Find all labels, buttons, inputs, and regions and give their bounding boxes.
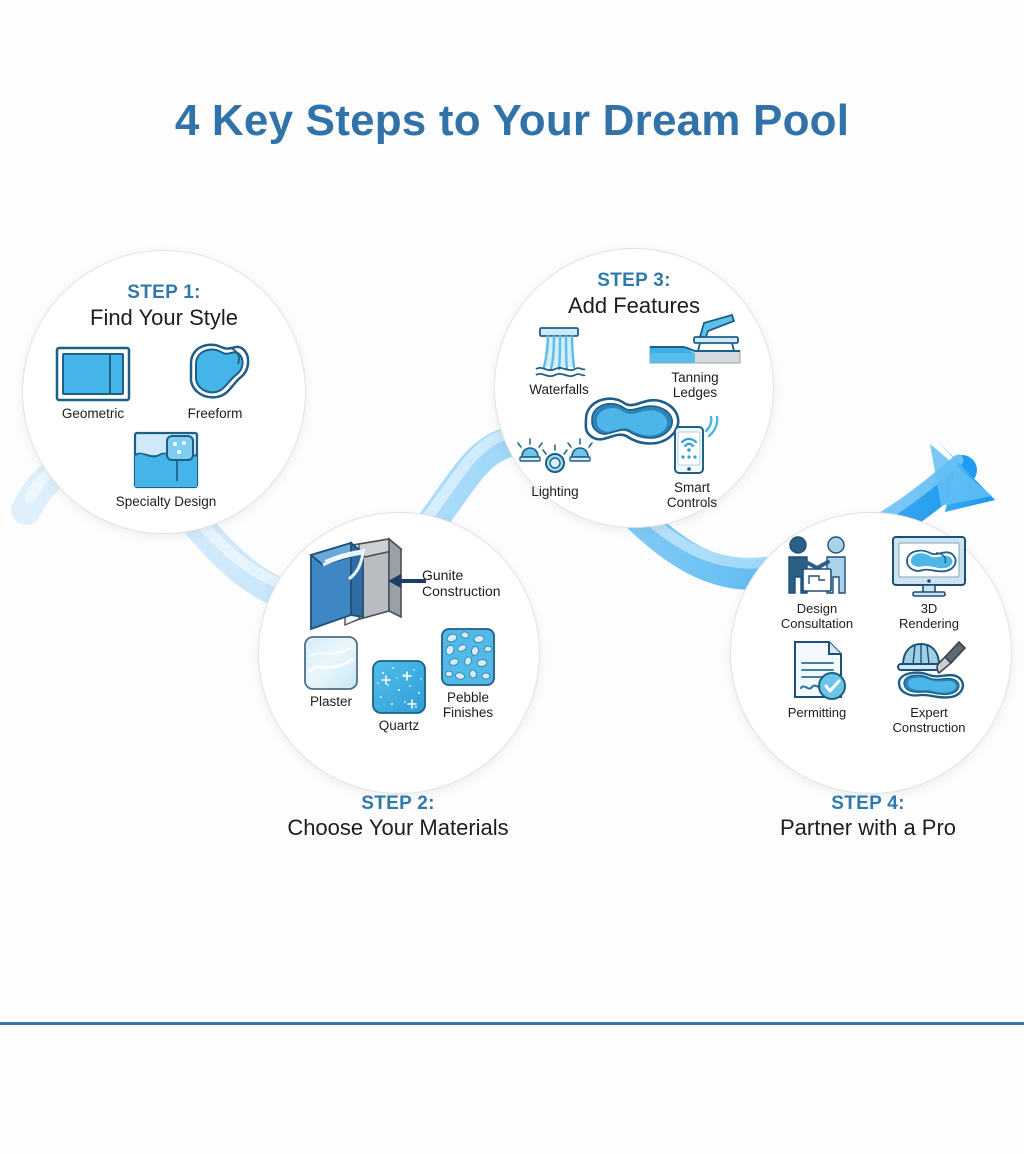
step-3-circle[interactable]: STEP 3: Add Features Waterfalls bbox=[494, 248, 774, 528]
tanning-ledge-icon bbox=[648, 313, 742, 367]
item-geometric[interactable]: Geometric bbox=[45, 345, 141, 421]
quartz-swatch-icon bbox=[371, 659, 427, 715]
item-lighting[interactable]: Lighting bbox=[505, 437, 605, 499]
item-design-consultation-label: Design Consultation bbox=[761, 602, 873, 631]
freeform-pool-icon bbox=[177, 337, 253, 403]
waterfall-icon bbox=[528, 325, 590, 379]
item-tanning-ledges[interactable]: Tanning Ledges bbox=[643, 313, 747, 400]
step-3-number: STEP 3: bbox=[495, 271, 773, 292]
step-1-number: STEP 1: bbox=[23, 283, 305, 304]
bottom-divider bbox=[0, 1022, 1024, 1025]
item-expert-construction-label: Expert Construction bbox=[873, 706, 985, 735]
pebble-swatch-icon bbox=[440, 627, 496, 687]
step-4-number: STEP 4: bbox=[658, 793, 1024, 814]
step-1-heading: STEP 1: Find Your Style bbox=[23, 283, 305, 329]
step-4-circle[interactable]: Design Consultation 3D Rendering bbox=[730, 512, 1012, 794]
step-3-heading: STEP 3: Add Features bbox=[495, 271, 773, 317]
step-2-heading: STEP 2: Choose Your Materials bbox=[188, 793, 608, 841]
item-specialty-design-label: Specialty Design bbox=[100, 494, 232, 509]
step-2-number: STEP 2: bbox=[188, 793, 608, 814]
item-specialty-design[interactable]: Specialty Design bbox=[100, 429, 232, 509]
item-permitting-label: Permitting bbox=[761, 706, 873, 721]
item-quartz-label: Quartz bbox=[355, 718, 443, 733]
item-pebble-finishes[interactable]: Pebble Finishes bbox=[423, 627, 513, 720]
step-1-circle[interactable]: STEP 1: Find Your Style Geometric Freefo… bbox=[22, 250, 306, 534]
monitor-pool-render-icon bbox=[889, 535, 969, 599]
item-pebble-finishes-label: Pebble Finishes bbox=[423, 690, 513, 720]
item-design-consultation[interactable]: Design Consultation bbox=[761, 535, 873, 631]
page-title: 4 Key Steps to Your Dream Pool bbox=[0, 96, 1024, 146]
step-4-heading: STEP 4: Partner with a Pro bbox=[658, 793, 1024, 841]
specialty-pool-spa-icon bbox=[131, 429, 201, 491]
document-check-icon bbox=[781, 639, 853, 703]
item-waterfalls[interactable]: Waterfalls bbox=[511, 325, 607, 397]
item-lighting-label: Lighting bbox=[505, 484, 605, 499]
item-freeform-label: Freeform bbox=[167, 406, 263, 421]
step-1-name: Find Your Style bbox=[23, 306, 305, 330]
item-3d-rendering[interactable]: 3D Rendering bbox=[873, 535, 985, 631]
step-2-circle[interactable]: Plaster bbox=[258, 512, 540, 794]
geometric-pool-icon bbox=[54, 345, 132, 403]
item-smart-controls-label: Smart Controls bbox=[645, 480, 739, 510]
plaster-swatch-icon bbox=[303, 635, 359, 691]
step-2-name: Choose Your Materials bbox=[188, 816, 608, 841]
item-3d-rendering-label: 3D Rendering bbox=[873, 602, 985, 631]
pool-lighting-icon bbox=[512, 437, 598, 481]
item-smart-controls[interactable]: Smart Controls bbox=[645, 415, 739, 510]
item-permitting[interactable]: Permitting bbox=[761, 639, 873, 721]
handshake-blueprint-icon bbox=[779, 535, 855, 599]
item-geometric-label: Geometric bbox=[45, 406, 141, 421]
smart-phone-wifi-icon bbox=[661, 415, 723, 477]
infographic-canvas: 4 Key Steps to Your Dream Pool bbox=[0, 0, 1024, 1154]
gunite-construction-callout: Gunite Construction bbox=[422, 568, 501, 600]
item-freeform[interactable]: Freeform bbox=[167, 337, 263, 421]
item-expert-construction[interactable]: Expert Construction bbox=[873, 639, 985, 735]
hardhat-trowel-pool-icon bbox=[889, 639, 969, 703]
step-4-name: Partner with a Pro bbox=[658, 816, 1024, 841]
